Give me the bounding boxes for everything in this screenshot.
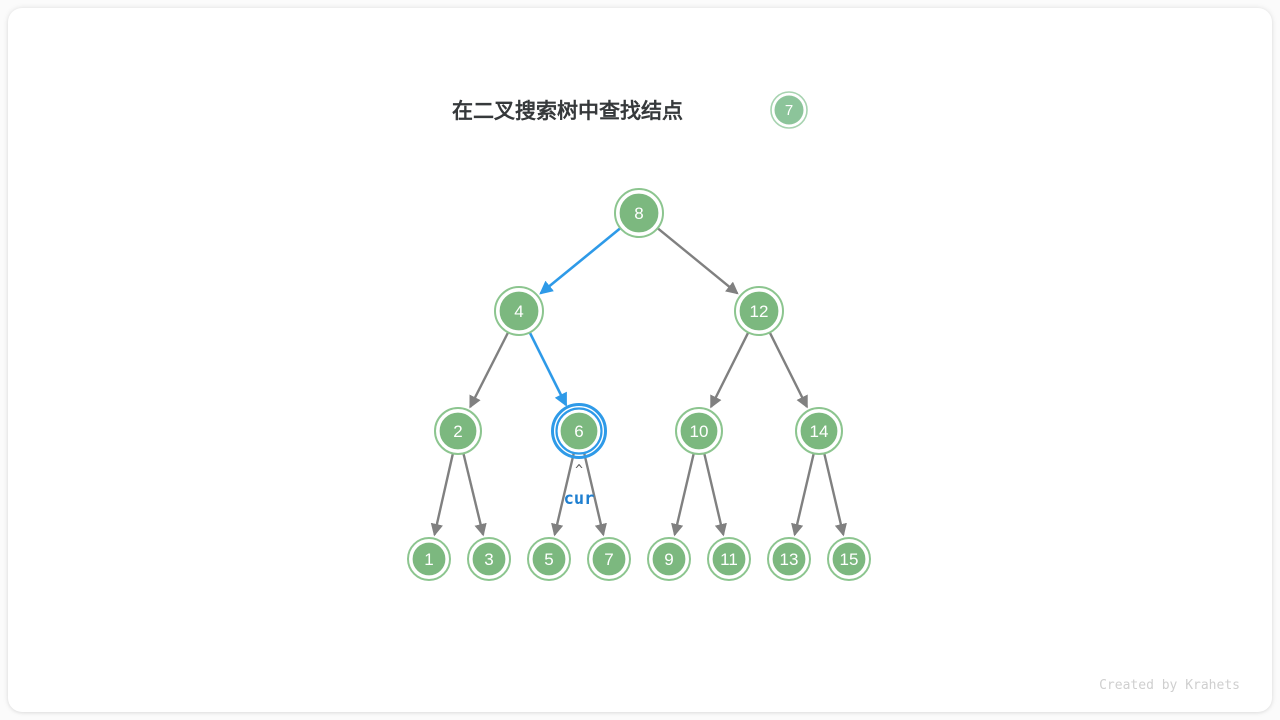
tree-node[interactable]: 1 xyxy=(408,538,450,580)
tree-node[interactable]: 8 xyxy=(615,189,663,237)
tree-edge xyxy=(530,332,566,405)
node-value: 8 xyxy=(634,204,643,223)
node-value: 14 xyxy=(810,422,829,441)
tree-node[interactable]: 10 xyxy=(676,408,722,454)
cur-caret-icon: ^ xyxy=(575,463,583,478)
tree-edge xyxy=(463,453,483,534)
node-value: 10 xyxy=(690,422,709,441)
tree-node[interactable]: 13 xyxy=(768,538,810,580)
tree-edges xyxy=(435,228,844,535)
tree-node[interactable]: 12 xyxy=(735,287,783,335)
page-title: 在二叉搜索树中查找结点 xyxy=(452,99,683,123)
tree-edge xyxy=(470,332,508,407)
node-value: 9 xyxy=(664,550,673,569)
cur-pointer-group: ^ cur xyxy=(564,463,595,509)
diagram-stage: 841226101413579111315 在二叉搜索树中查找结点 7 ^ cu… xyxy=(8,8,1272,712)
tree-edge xyxy=(824,453,843,534)
tree-node[interactable]: 3 xyxy=(468,538,510,580)
tree-edge xyxy=(711,332,748,406)
binary-search-tree-diagram: 841226101413579111315 在二叉搜索树中查找结点 7 ^ cu… xyxy=(8,8,1272,712)
tree-node[interactable]: 14 xyxy=(796,408,842,454)
node-value: 12 xyxy=(750,302,769,321)
tree-node[interactable]: 5 xyxy=(528,538,570,580)
node-value: 3 xyxy=(484,550,493,569)
node-value: 7 xyxy=(604,550,613,569)
node-value: 13 xyxy=(780,550,799,569)
tree-edge xyxy=(675,453,694,534)
tree-node[interactable]: 15 xyxy=(828,538,870,580)
tree-node[interactable]: 11 xyxy=(708,538,750,580)
node-value: 4 xyxy=(514,302,523,321)
tree-node[interactable]: 7 xyxy=(588,538,630,580)
credit-text: Created by Krahets xyxy=(1099,678,1240,693)
tree-node[interactable]: 2 xyxy=(435,408,481,454)
node-value: 6 xyxy=(574,422,583,441)
tree-nodes: 841226101413579111315 xyxy=(408,189,870,580)
node-value: 2 xyxy=(453,422,462,441)
tree-node[interactable]: 9 xyxy=(648,538,690,580)
cur-pointer-label: cur xyxy=(564,489,595,509)
node-value: 15 xyxy=(840,550,859,569)
tree-node[interactable]: 6 xyxy=(553,405,606,458)
page-title-group: 在二叉搜索树中查找结点 7 xyxy=(452,92,807,128)
tree-edge xyxy=(658,228,738,293)
target-badge-value: 7 xyxy=(785,102,793,119)
tree-edge xyxy=(541,228,621,293)
tree-node[interactable]: 4 xyxy=(495,287,543,335)
tree-edge xyxy=(795,453,814,534)
tree-edge xyxy=(435,453,453,534)
slide-card: 841226101413579111315 在二叉搜索树中查找结点 7 ^ cu… xyxy=(8,8,1272,712)
node-value: 1 xyxy=(424,550,433,569)
tree-edge xyxy=(770,332,807,406)
node-value: 5 xyxy=(544,550,553,569)
tree-edge xyxy=(704,453,723,534)
node-value: 11 xyxy=(720,550,738,569)
